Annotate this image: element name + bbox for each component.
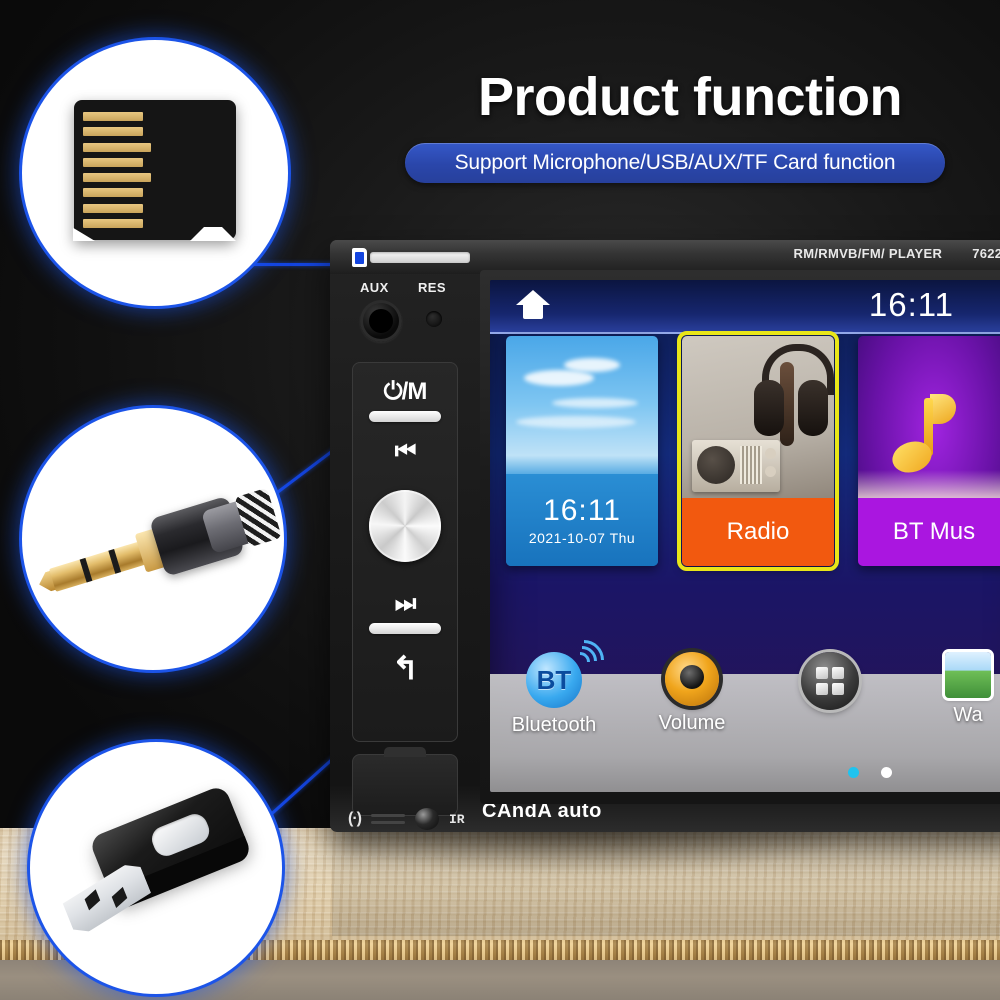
- page-indicator-dots[interactable]: [848, 767, 892, 778]
- microsd-pins: [83, 112, 143, 228]
- tile-radio[interactable]: Radio: [682, 336, 834, 566]
- unit-model-label: RM/RMVB/FM/ PLAYER 7622C: [794, 246, 1000, 261]
- bluetooth-waves-icon: [570, 638, 610, 672]
- callout-aux-cable: [22, 408, 284, 670]
- callout-tf-card: [22, 40, 288, 306]
- table-reflection: [332, 832, 1000, 936]
- page-dot-2[interactable]: [881, 767, 892, 778]
- dock-bar: BT Bluetooth Volume: [490, 674, 1000, 792]
- previous-icon: ⏮: [395, 440, 416, 464]
- back-button[interactable]: ↰: [352, 652, 458, 684]
- aux-plug-icon: [26, 472, 279, 629]
- ir-receiver-icon: [415, 808, 439, 830]
- microsd-card-icon: [74, 100, 236, 240]
- button-stack: ⏻/M ⏮ ⏭ ↰: [352, 362, 458, 742]
- plug-shaft: [49, 541, 148, 592]
- app-tile-row: 16:11 2021-10-07 Thu Radio: [490, 336, 1000, 586]
- product-infographic: Product function Support Microphone/USB/…: [0, 0, 1000, 1000]
- tile-bt-music[interactable]: BT Mus: [858, 336, 1000, 566]
- dock-item-bluetooth[interactable]: BT Bluetooth: [506, 652, 602, 737]
- reset-button[interactable]: [426, 311, 442, 327]
- speaker-icon: [665, 652, 719, 706]
- apps-grid-icon: [801, 652, 859, 710]
- tile-clock-time: 16:11: [543, 494, 621, 528]
- tile-clock-caption: 16:11 2021-10-07 Thu: [506, 474, 658, 566]
- volume-knob[interactable]: [369, 490, 441, 562]
- tf-card-slot-icon: [352, 248, 367, 267]
- reset-label: RES: [418, 280, 446, 295]
- button-bar: [369, 411, 441, 422]
- microphone-icon: (·): [348, 810, 361, 828]
- dock-items: BT Bluetooth Volume: [490, 652, 1000, 737]
- aux-jack[interactable]: [360, 300, 402, 342]
- model-number: 7622C: [972, 246, 1000, 261]
- page-dot-1[interactable]: [848, 767, 859, 778]
- ir-label: IR: [449, 812, 465, 827]
- dock-item-apps[interactable]: [782, 652, 878, 737]
- car-stereo-head-unit: RM/RMVB/FM/ PLAYER 7622C AUX RES ⏻/M ⏮: [330, 240, 1000, 832]
- dock-label-bluetooth: Bluetooth: [512, 714, 597, 737]
- bluetooth-icon: BT: [526, 652, 582, 708]
- subtitle-text: Support Microphone/USB/AUX/TF Card funct…: [455, 151, 896, 175]
- dock-item-volume[interactable]: Volume: [644, 652, 740, 737]
- tile-clock-date: 2021-10-07 Thu: [529, 530, 635, 546]
- dock-label-volume: Volume: [659, 712, 726, 735]
- callout-usb-drive: [30, 742, 282, 994]
- music-note-icon: [892, 394, 950, 472]
- tile-clock[interactable]: 16:11 2021-10-07 Thu: [506, 336, 658, 566]
- wallpaper-icon: [945, 652, 991, 698]
- status-clock: 16:11: [869, 286, 954, 324]
- mic-grille: [371, 814, 405, 824]
- tile-bt-music-caption: BT Mus: [858, 498, 1000, 566]
- power-mode-button[interactable]: ⏻/M: [352, 380, 458, 422]
- port-group: AUX RES: [346, 278, 466, 340]
- aux-port-label: AUX: [360, 280, 389, 295]
- button-bar: [369, 623, 441, 634]
- dock-item-wallpaper[interactable]: Wa: [920, 652, 1000, 737]
- home-icon[interactable]: [516, 290, 550, 320]
- dock-label-wallpaper: Wa: [953, 704, 982, 727]
- tf-card-slot[interactable]: [370, 252, 470, 263]
- vintage-radio-graphic: [692, 440, 780, 492]
- back-arrow-icon: ↰: [392, 652, 418, 684]
- control-panel: AUX RES ⏻/M ⏮ ⏭ ↰: [346, 278, 466, 798]
- status-bar: 16:11: [490, 280, 1000, 334]
- page-title: Product function: [400, 66, 980, 128]
- power-icon: ⏻/M: [384, 380, 427, 404]
- next-track-button[interactable]: ⏭: [352, 592, 458, 634]
- unit-top-bezel: RM/RMVB/FM/ PLAYER 7622C: [330, 240, 1000, 274]
- subtitle-banner: Support Microphone/USB/AUX/TF Card funct…: [405, 143, 945, 183]
- touchscreen-display[interactable]: 16:11 16:11 2021-10-07 Thu: [490, 280, 1000, 792]
- tile-radio-caption: Radio: [682, 498, 834, 566]
- usb-flash-drive-icon: [42, 778, 271, 968]
- next-icon: ⏭: [395, 592, 416, 616]
- previous-track-button[interactable]: ⏮: [352, 440, 458, 464]
- format-label: RM/RMVB/FM/ PLAYER: [794, 246, 943, 261]
